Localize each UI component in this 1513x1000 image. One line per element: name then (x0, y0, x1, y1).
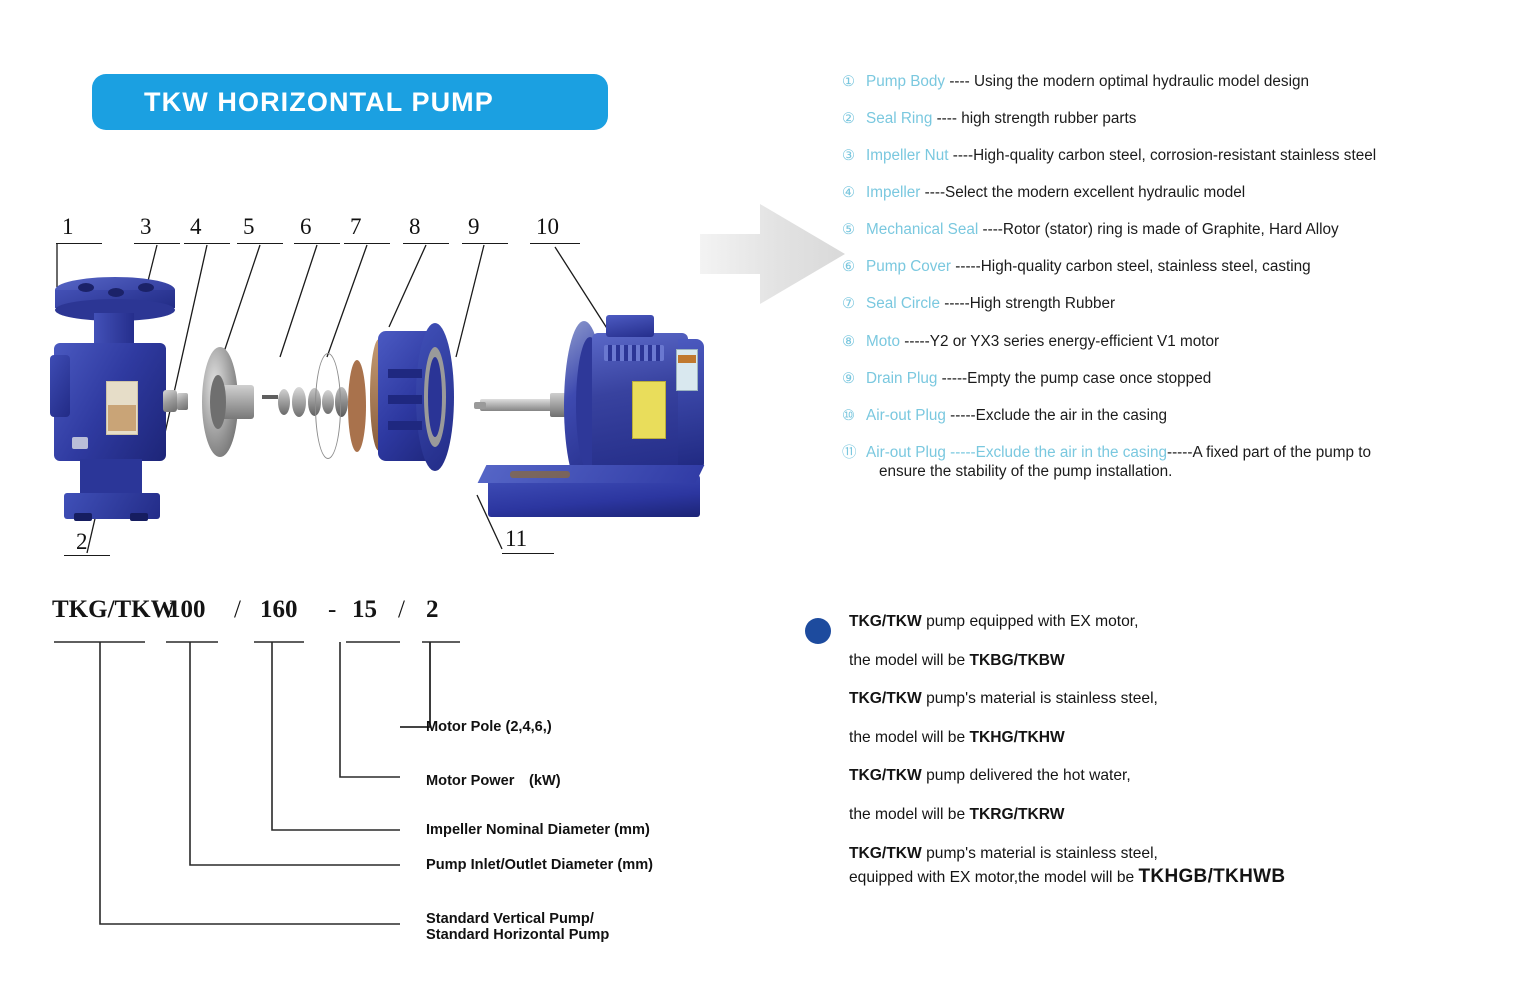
circled-number-icon: ② (842, 109, 866, 129)
legend-dash: ---- (920, 184, 945, 201)
mechanical-seal-part (262, 383, 362, 423)
legend-part-name: Air-out Plug (866, 407, 946, 424)
circled-number-icon: ⑨ (842, 369, 866, 389)
legend-dash: ---- (948, 147, 973, 164)
impeller-part (192, 347, 254, 457)
legend-dash: ---- (945, 73, 974, 90)
legend-part-name: Drain Plug (866, 370, 937, 387)
infographic-page: TKW HORIZONTAL PUMP 1 3 4 5 6 7 8 9 10 2… (0, 0, 1513, 1000)
legend-description: high strength rubber parts (961, 110, 1136, 127)
legend-dash: ----- (940, 295, 970, 312)
note-text: pump's material is stainless steel, (922, 845, 1158, 862)
legend-description: Select the modern excellent hydraulic mo… (945, 184, 1245, 201)
note-model: TKRG/TKRW (969, 806, 1064, 823)
legend-description: Rotor (stator) ring is made of Graphite,… (1003, 221, 1339, 238)
motor-part (480, 315, 700, 525)
legend-description: High strength Rubber (970, 295, 1115, 312)
bullet-dot-icon (805, 618, 831, 644)
legend-dash: ----- (951, 258, 981, 275)
note-line: the model will be TKHG/TKHW (849, 730, 1495, 746)
note-line: TKG/TKW pump's material is stainless ste… (849, 846, 1495, 862)
note-text: pump delivered the hot water, (922, 767, 1131, 784)
right-arrow-icon (700, 198, 845, 310)
note-text: the model will be (849, 729, 969, 746)
note-line: the model will be TKRG/TKRW (849, 807, 1495, 823)
pump-cover-part (370, 323, 460, 473)
model-label-inlet-dia: Pump Inlet/Outlet Diameter (mm) (426, 857, 653, 873)
legend-dash: ----- (900, 333, 930, 350)
legend-part-name: Pump Body (866, 73, 945, 90)
model-label-motor-power: Motor Power (kW) (426, 769, 561, 790)
note-model-highlight: TKHGB/TKHWB (1139, 866, 1286, 887)
bracket-lines (40, 596, 740, 966)
note-text: equipped with EX motor,the model will be (849, 869, 1139, 886)
list-item: ② Seal Ring ---- high strength rubber pa… (842, 109, 1502, 129)
note-prefix: TKG/TKW (849, 613, 922, 630)
note-prefix: TKG/TKW (849, 845, 922, 862)
circled-number-icon: ⑪ (842, 443, 866, 463)
note-text: pump equipped with EX motor, (922, 613, 1139, 630)
note-text: the model will be (849, 652, 969, 669)
circled-number-icon: ⑩ (842, 406, 866, 426)
legend-dash: ---- (978, 221, 1003, 238)
circled-number-icon: ① (842, 72, 866, 92)
legend-description: High-quality carbon steel, corrosion-res… (973, 147, 1376, 164)
note-line: the model will be TKBG/TKBW (849, 653, 1495, 669)
impeller-nut-washer (177, 393, 188, 410)
model-label-motor-pole: Motor Pole (2,4,6,) (426, 719, 552, 735)
seal-ring-part (348, 360, 366, 452)
circled-number-icon: ⑥ (842, 257, 866, 277)
legend-description: Empty the pump case once stopped (967, 370, 1211, 387)
page-title: TKW HORIZONTAL PUMP (92, 87, 494, 118)
list-item: ⑨ Drain Plug -----Empty the pump case on… (842, 369, 1502, 389)
legend-dash: ----- (946, 444, 976, 461)
legend-description-blue: Exclude the air in the casing (976, 444, 1167, 461)
list-item: ⑩ Air-out Plug -----Exclude the air in t… (842, 406, 1502, 426)
legend-description: Using the modern optimal hydraulic model… (974, 73, 1309, 90)
legend-description: Exclude the air in the casing (976, 407, 1167, 424)
note-model: TKBG/TKBW (969, 652, 1064, 669)
legend-part-name: Pump Cover (866, 258, 951, 275)
model-label-impeller-dia: Impeller Nominal Diameter (mm) (426, 822, 650, 838)
legend-description: Y2 or YX3 series energy-efficient V1 mot… (930, 333, 1219, 350)
list-item: ⑧ Moto -----Y2 or YX3 series energy-effi… (842, 332, 1502, 352)
parts-legend-list: ① Pump Body ---- Using the modern optima… (842, 72, 1502, 499)
list-item: ⑥ Pump Cover -----High-quality carbon st… (842, 257, 1502, 277)
model-label-standard-pump-line2: Standard Horizontal Pump (426, 927, 609, 943)
list-item: ③ Impeller Nut ----High-quality carbon s… (842, 146, 1502, 166)
legend-part-name: Moto (866, 333, 900, 350)
legend-part-name: Mechanical Seal (866, 221, 978, 238)
circled-number-icon: ⑤ (842, 220, 866, 240)
legend-dash: ----- (946, 407, 976, 424)
legend-dash: ---- (932, 110, 961, 127)
legend-description: High-quality carbon steel, stainless ste… (981, 258, 1311, 275)
legend-description-line2: ensure the stability of the pump install… (866, 462, 1502, 482)
list-item: ⑦ Seal Circle -----High strength Rubber (842, 294, 1502, 314)
note-text: pump's material is stainless steel, (922, 690, 1158, 707)
model-label-standard-pump: Standard Vertical Pump/ Standard Horizon… (426, 911, 609, 943)
note-line: TKG/TKW pump equipped with EX motor, (849, 614, 1495, 630)
exploded-pump-diagram: 1 3 4 5 6 7 8 9 10 2 11 (40, 205, 700, 570)
circled-number-icon: ③ (842, 146, 866, 166)
note-prefix: TKG/TKW (849, 767, 922, 784)
circled-number-icon: ④ (842, 183, 866, 203)
model-code-breakdown: TKG/TKW 100 / 160 - 15 / 2 (40, 596, 740, 966)
page-title-banner: TKW HORIZONTAL PUMP (92, 74, 608, 130)
list-item: ① Pump Body ---- Using the modern optima… (842, 72, 1502, 92)
legend-description: A fixed part of the pump to (1192, 444, 1371, 461)
note-line: TKG/TKW pump's material is stainless ste… (849, 691, 1495, 707)
note-line: TKG/TKW pump delivered the hot water, (849, 768, 1495, 784)
model-label-standard-pump-line1: Standard Vertical Pump/ (426, 911, 594, 927)
note-prefix: TKG/TKW (849, 690, 922, 707)
circled-number-icon: ⑧ (842, 332, 866, 352)
note-model: TKHG/TKHW (969, 729, 1064, 746)
list-item: ⑪ Air-out Plug -----Exclude the air in t… (842, 443, 1502, 482)
impeller-nut-part (163, 390, 177, 412)
model-naming-notes: TKG/TKW pump equipped with EX motor, the… (805, 614, 1495, 909)
list-item: ⑤ Mechanical Seal ----Rotor (stator) rin… (842, 220, 1502, 240)
note-text: the model will be (849, 806, 969, 823)
legend-part-name: Seal Circle (866, 295, 940, 312)
note-line: equipped with EX motor,the model will be… (849, 867, 1495, 886)
legend-dash: ----- (937, 370, 967, 387)
legend-dash-2: ----- (1167, 444, 1192, 461)
circled-number-icon: ⑦ (842, 294, 866, 314)
legend-part-name: Air-out Plug (866, 444, 946, 461)
list-item: ④ Impeller ----Select the modern excelle… (842, 183, 1502, 203)
legend-part-name: Seal Ring (866, 110, 932, 127)
seal-circle-part (315, 353, 341, 459)
legend-part-name: Impeller Nut (866, 147, 948, 164)
legend-part-name: Impeller (866, 184, 920, 201)
